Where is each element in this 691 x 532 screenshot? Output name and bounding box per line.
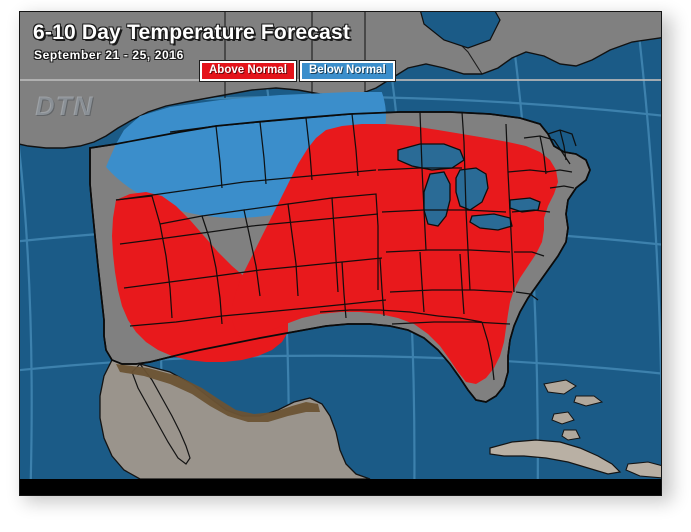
- map-bottom-bar: [20, 479, 662, 496]
- legend-item-above-normal[interactable]: Above Normal: [200, 61, 296, 81]
- hispaniola-landmass: [626, 462, 662, 478]
- bahamas-islands: [544, 380, 602, 440]
- page-root: DTN 6-10 Day Temperature Forecast Septem…: [0, 0, 691, 532]
- cuba-landmass: [490, 440, 620, 474]
- weather-map-card[interactable]: DTN 6-10 Day Temperature Forecast Septem…: [19, 11, 662, 496]
- map-landmasses: [20, 12, 662, 479]
- legend-item-below-normal[interactable]: Below Normal: [300, 61, 395, 81]
- map-viewport[interactable]: DTN 6-10 Day Temperature Forecast Septem…: [20, 12, 662, 479]
- legend: Above Normal Below Normal: [200, 61, 395, 81]
